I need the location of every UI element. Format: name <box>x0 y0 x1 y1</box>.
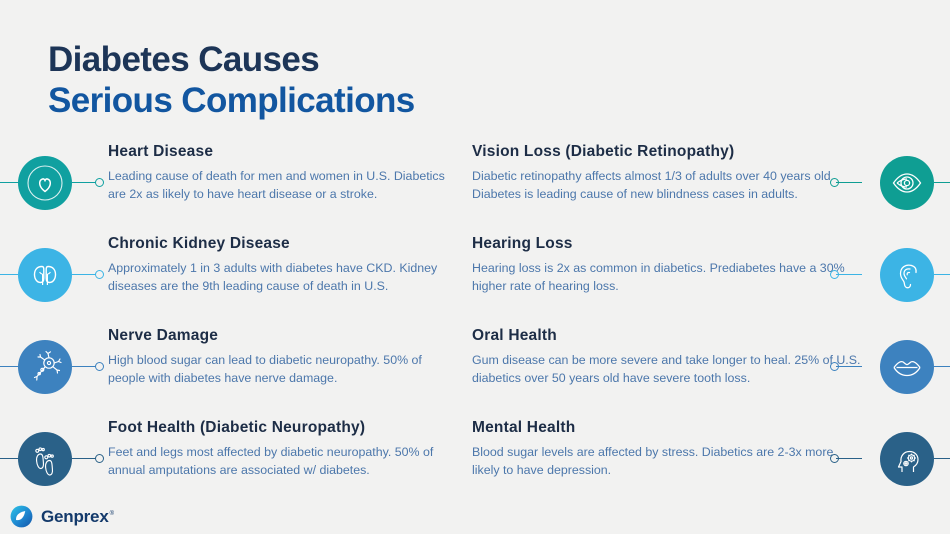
connector-line-outer <box>0 366 20 367</box>
item-text: Vision Loss (Diabetic Retinopathy) Diabe… <box>472 143 862 203</box>
item-description: Hearing loss is 2x as common in diabetic… <box>472 260 862 295</box>
item-text: Chronic Kidney Disease Approximately 1 i… <box>108 235 453 295</box>
genprex-logo-mark <box>10 505 33 528</box>
connector-line-outer <box>0 274 20 275</box>
connector-line-outer <box>0 458 20 459</box>
footprints-icon <box>18 432 72 486</box>
registered-mark: ® <box>110 511 114 517</box>
item-text: Oral Health Gum disease can be more seve… <box>472 327 862 387</box>
ear-icon <box>880 248 934 302</box>
heart-icon <box>18 156 72 210</box>
connector-line-outer <box>934 458 950 459</box>
genprex-wordmark: Genprex® <box>41 507 114 527</box>
list-item-vision-loss: Vision Loss (Diabetic Retinopathy) Diabe… <box>462 143 950 223</box>
item-description: Gum disease can be more severe and take … <box>472 352 862 387</box>
item-text: Nerve Damage High blood sugar can lead t… <box>108 327 453 387</box>
item-title: Heart Disease <box>108 143 453 161</box>
connector-line-outer <box>934 274 950 275</box>
title-line-2: Serious Complications <box>48 81 415 122</box>
connector-line-outer <box>934 182 950 183</box>
item-title: Vision Loss (Diabetic Retinopathy) <box>472 143 862 161</box>
item-title: Nerve Damage <box>108 327 453 345</box>
page-title: Diabetes Causes Serious Complications <box>48 40 415 121</box>
item-description: Diabetic retinopathy affects almost 1/3 … <box>472 168 862 203</box>
genprex-logo: Genprex® <box>10 505 114 528</box>
infographic-slide: Diabetes Causes Serious Complications He… <box>0 0 950 534</box>
item-title: Oral Health <box>472 327 862 345</box>
item-text: Hearing Loss Hearing loss is 2x as commo… <box>472 235 862 295</box>
item-description: Approximately 1 in 3 adults with diabete… <box>108 260 453 295</box>
connector-line-inner <box>836 182 862 183</box>
item-description: Leading cause of death for men and women… <box>108 168 453 203</box>
item-title: Hearing Loss <box>472 235 862 253</box>
lips-icon <box>880 340 934 394</box>
item-description: High blood sugar can lead to diabetic ne… <box>108 352 453 387</box>
list-item-nerve-damage: Nerve Damage High blood sugar can lead t… <box>0 327 460 407</box>
list-item-oral-health: Oral Health Gum disease can be more seve… <box>462 327 950 407</box>
list-item-chronic-kidney-disease: Chronic Kidney Disease Approximately 1 i… <box>0 235 460 315</box>
connector-node <box>95 270 104 279</box>
list-item-heart-disease: Heart Disease Leading cause of death for… <box>0 143 460 223</box>
connector-node <box>95 454 104 463</box>
connector-line-inner <box>836 458 862 459</box>
connector-line-inner <box>836 366 862 367</box>
item-text: Foot Health (Diabetic Neuropathy) Feet a… <box>108 419 453 479</box>
connector-node <box>95 362 104 371</box>
title-line-1: Diabetes Causes <box>48 40 415 81</box>
item-description: Feet and legs most affected by diabetic … <box>108 444 453 479</box>
kidneys-icon <box>18 248 72 302</box>
list-item-hearing-loss: Hearing Loss Hearing loss is 2x as commo… <box>462 235 950 315</box>
connector-line-outer <box>0 182 20 183</box>
connector-node <box>95 178 104 187</box>
eye-icon <box>880 156 934 210</box>
item-title: Foot Health (Diabetic Neuropathy) <box>108 419 453 437</box>
neuron-icon <box>18 340 72 394</box>
connector-line-outer <box>934 366 950 367</box>
head-gears-icon <box>880 432 934 486</box>
item-title: Mental Health <box>472 419 862 437</box>
connector-line-inner <box>836 274 862 275</box>
list-item-mental-health: Mental Health Blood sugar levels are aff… <box>462 419 950 499</box>
item-title: Chronic Kidney Disease <box>108 235 453 253</box>
logo-name-text: Genprex <box>41 507 109 526</box>
item-text: Mental Health Blood sugar levels are aff… <box>472 419 862 479</box>
item-text: Heart Disease Leading cause of death for… <box>108 143 453 203</box>
list-item-foot-health: Foot Health (Diabetic Neuropathy) Feet a… <box>0 419 460 499</box>
item-description: Blood sugar levels are affected by stres… <box>472 444 862 479</box>
